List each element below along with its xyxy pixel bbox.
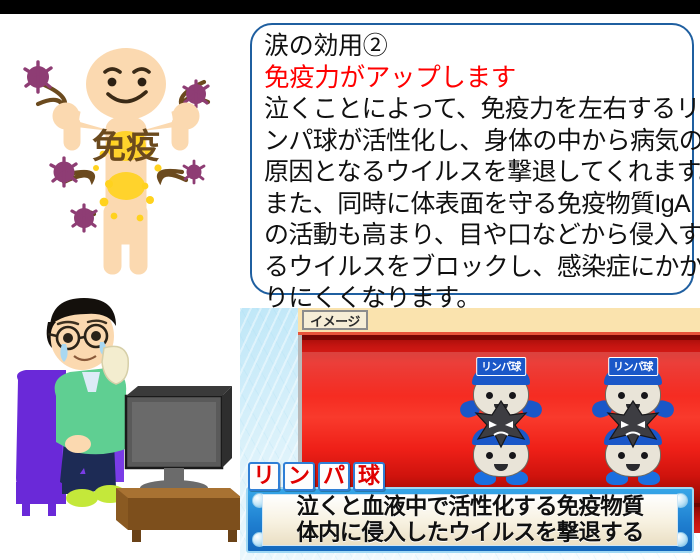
caption-inner: 泣くと血液中で活性化する免疫物質 体内に侵入したウイルスを撃退する	[262, 494, 678, 546]
title-tile: リ	[248, 462, 280, 491]
immunity-person-svg: 免疫	[8, 22, 240, 284]
lymphocyte-title-tiles: リ ン パ 球	[248, 462, 385, 491]
man-watching-tv-illustration	[4, 292, 248, 558]
eye-icon	[641, 452, 648, 459]
mouth-icon	[494, 464, 508, 471]
lymphocyte-character-left: リンパ球	[458, 357, 544, 485]
top-black-band	[0, 0, 700, 14]
hand	[65, 435, 91, 453]
lymphocyte-character-right: リンパ球	[590, 357, 676, 485]
bubble-body: 泣くことによって、免疫力を左右するリ ンパ球が活性化し、身体の中から病気の 原因…	[264, 94, 682, 315]
immunity-person-illustration: 免疫	[8, 22, 240, 284]
lymphocyte-label: リンパ球	[608, 357, 658, 376]
lymphocyte-label: リンパ球	[476, 357, 526, 376]
caption-line: 体内に侵入したウイルスを撃退する	[296, 520, 643, 546]
title-tile: パ	[318, 462, 350, 491]
eye-icon	[618, 452, 625, 459]
illustration-body-text-1: 免疫	[92, 128, 160, 166]
vessel-top-edge	[298, 335, 700, 340]
eye-icon	[486, 452, 493, 459]
slide-canvas: 免疫	[0, 0, 700, 560]
bubble-body-line: ンパ球が活性化し、身体の中から病気の	[264, 126, 682, 158]
bubble-body-line: の活動も高まり、目や口などから侵入す	[264, 220, 682, 252]
virus-icon	[470, 397, 532, 449]
bubble-title: 涙の効用②	[264, 31, 682, 62]
title-tile: ン	[283, 462, 315, 491]
television	[126, 386, 232, 496]
mouth-icon	[626, 464, 640, 471]
bubble-body-line: 原因となるウイルスを撃退してくれます。	[264, 157, 682, 189]
title-tile: 球	[353, 462, 385, 491]
caption-box: 泣くと血液中で活性化する免疫物質 体内に侵入したウイルスを撃退する	[246, 487, 694, 553]
bubble-body-line: るウイルスをブロックし、感染症にかか	[264, 252, 682, 284]
eye-icon	[509, 452, 516, 459]
explanation-bubble: 涙の効用② 免疫力がアップします 泣くことによって、免疫力を左右するリ ンパ球が…	[250, 23, 694, 295]
man-watching-tv-svg	[4, 292, 248, 558]
bubble-subtitle: 免疫力がアップします	[264, 62, 682, 94]
bubble-body-line: 泣くことによって、免疫力を左右するリ	[264, 94, 682, 126]
virus-icon	[602, 397, 664, 449]
shoe-left	[66, 489, 98, 507]
bubble-body-line: また、同時に体表面を守る免疫物質IgA	[264, 189, 682, 221]
image-tag-label: イメージ	[302, 310, 368, 330]
tv-stand	[116, 488, 242, 542]
caption-line: 泣くと血液中で活性化する免疫物質	[296, 494, 643, 520]
